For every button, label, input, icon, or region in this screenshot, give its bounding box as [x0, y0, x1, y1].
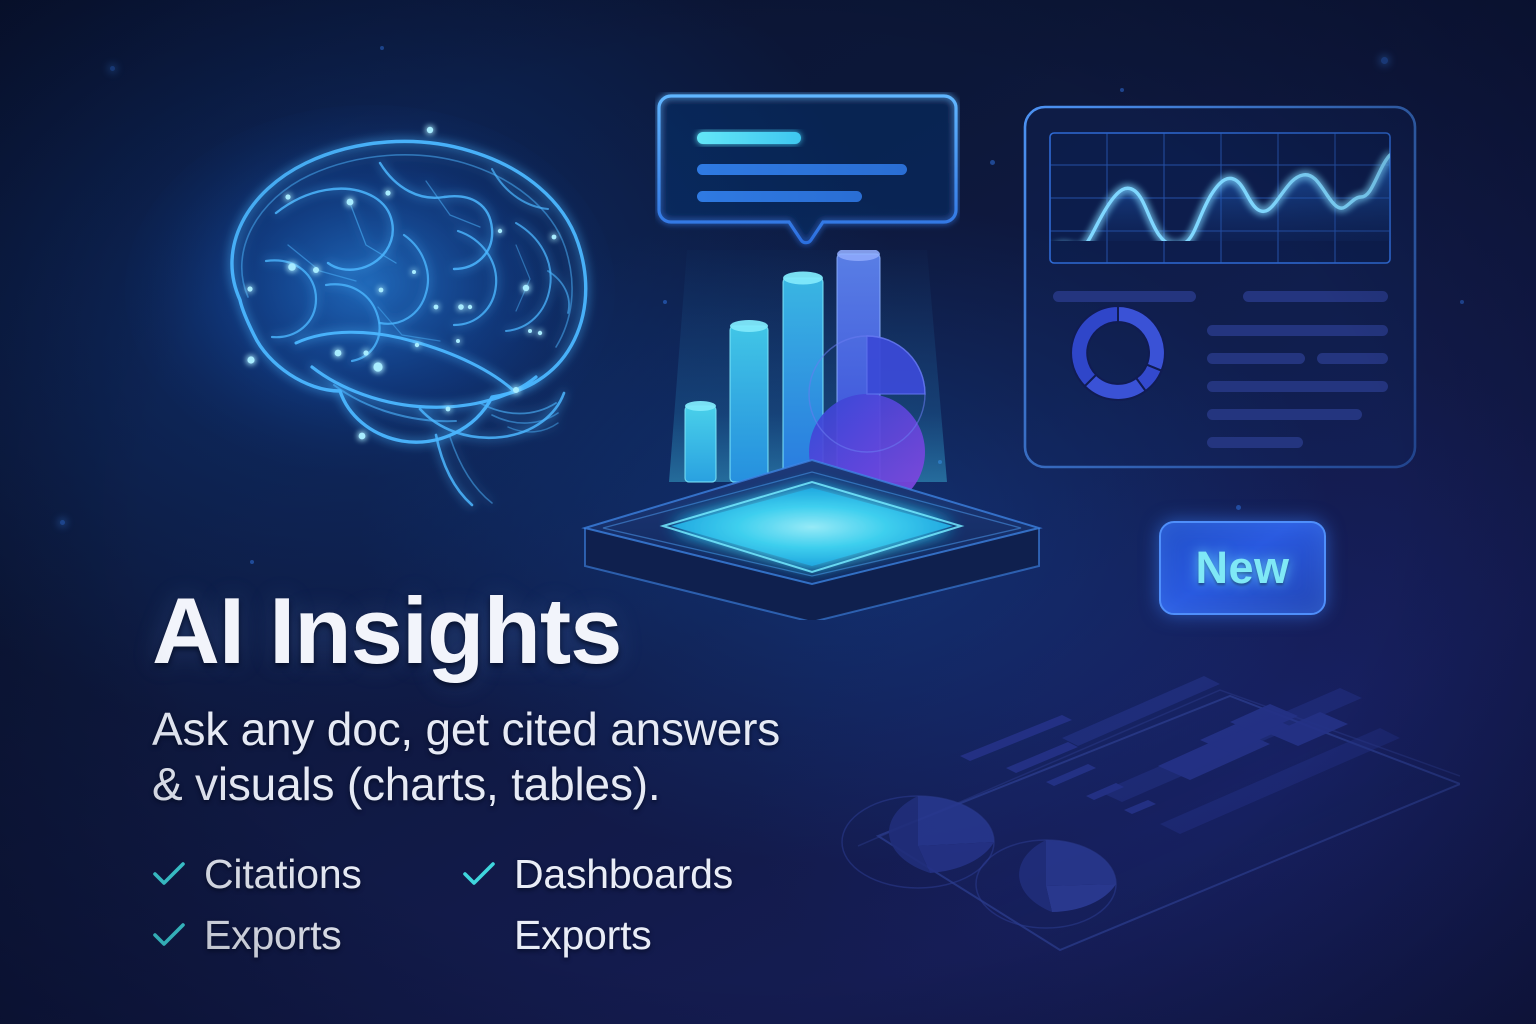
particle	[380, 46, 384, 50]
particle	[1120, 88, 1124, 92]
holo-bar-2	[730, 320, 768, 482]
feature-item-exports: Exports	[152, 912, 462, 959]
check-icon	[462, 860, 496, 888]
particle	[60, 520, 65, 525]
feature-label: Citations	[204, 851, 362, 898]
dashboard-line-chart	[1050, 133, 1390, 263]
feature-label: Exports	[204, 912, 342, 959]
new-badge[interactable]: New	[1159, 521, 1326, 615]
hologram-projector-icon	[575, 250, 1050, 620]
particle	[110, 66, 115, 71]
skeleton-bar	[1243, 291, 1388, 302]
skeleton-bar	[1053, 291, 1196, 302]
hero-copy: AI Insights Ask any doc, get cited answe…	[152, 586, 932, 959]
chat-line-2	[697, 164, 907, 175]
feature-label: Exports	[514, 912, 652, 959]
feature-item-dashboards: Dashboards	[462, 851, 932, 898]
chat-bubble-icon	[655, 92, 960, 262]
page-subtitle: Ask any doc, get cited answers & visuals…	[152, 702, 932, 811]
new-badge-label: New	[1195, 542, 1289, 594]
feature-label: Dashboards	[514, 851, 733, 898]
check-icon	[152, 921, 186, 949]
brain-icon	[120, 85, 640, 515]
check-icon	[152, 860, 186, 888]
subtitle-line-1: Ask any doc, get cited answers	[152, 703, 780, 755]
chat-line-3	[697, 191, 862, 202]
page-title: AI Insights	[152, 586, 932, 676]
holo-bar-1	[685, 401, 716, 482]
chat-line-1	[697, 132, 801, 144]
particle	[1381, 57, 1388, 64]
particle	[1236, 505, 1241, 510]
feature-item-exports-secondary: Exports	[462, 912, 932, 959]
dashboard-panel-icon	[1015, 103, 1425, 473]
particle	[990, 160, 995, 165]
particle	[250, 560, 254, 564]
hero-banner: New AI Insights Ask any doc, get cited a…	[0, 0, 1536, 1024]
feature-list: Citations Dashboards Exports	[152, 851, 932, 959]
particle	[1460, 300, 1464, 304]
subtitle-line-2: & visuals (charts, tables).	[152, 758, 660, 810]
feature-item-citations: Citations	[152, 851, 462, 898]
